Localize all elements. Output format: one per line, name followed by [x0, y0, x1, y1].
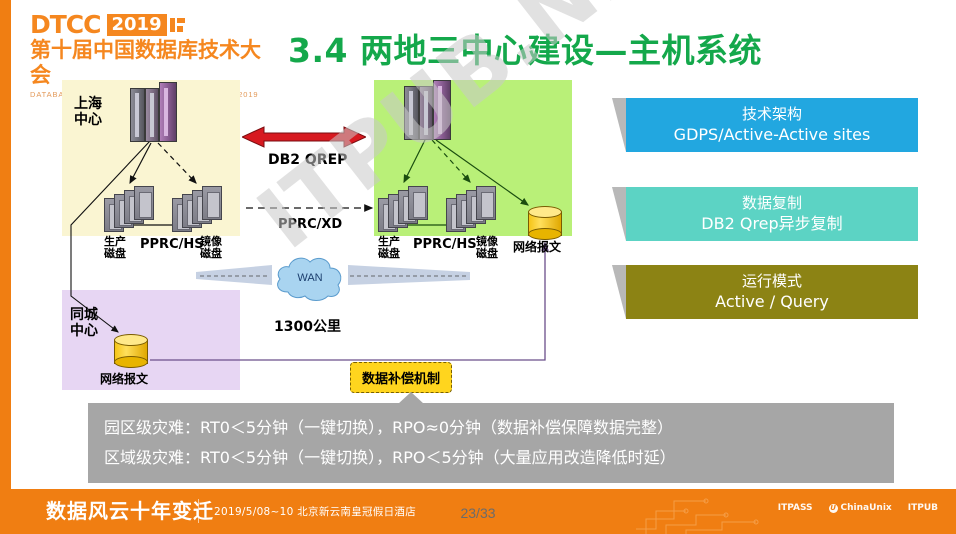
dtcc-flag-icon	[170, 16, 186, 34]
database-cylinder-icon-remote	[528, 206, 562, 240]
banner-data-replication[interactable]: 数据复制 DB2 Qrep异步复制	[626, 187, 918, 241]
panel-tongcheng-center	[62, 290, 240, 390]
label-remote-network-message: 网络报文	[513, 238, 561, 255]
banner-2-line2: DB2 Qrep异步复制	[701, 213, 842, 234]
sponsor-logo-0: ITPASS	[778, 503, 813, 513]
left-orange-bar	[0, 0, 11, 489]
dtcc-wordmark: DTCC	[30, 12, 101, 37]
callout-line-2: 区域级灾难：RT0＜5分钟（一键切换），RPO＜5分钟（大量应用改造降低时延）	[104, 443, 880, 473]
label-remote-mirror-disk: 镜像 磁盘	[464, 236, 510, 260]
label-distance: 1300公里	[274, 316, 341, 336]
dtcc-logo-row-top: DTCC 2019	[30, 12, 270, 37]
label-tongcheng-network-message: 网络报文	[100, 370, 148, 387]
sponsor-logo-1: UChinaUnix	[829, 503, 892, 513]
label-shanghai-production-disk: 生产 磁盘	[92, 236, 138, 260]
qrep-double-arrow-icon	[242, 126, 366, 148]
banner-tech-architecture[interactable]: 技术架构 GDPS/Active-Active sites	[626, 98, 918, 152]
disk-array-icon-shanghai-mirror	[172, 186, 230, 234]
banner-1-line1: 技术架构	[742, 105, 802, 124]
sponsor-logo-2: ITPUB	[908, 503, 938, 513]
label-pprc-xd: PPRC/XD	[278, 217, 342, 232]
page-number: 23/33	[460, 505, 495, 521]
label-shanghai-center: 上海 中心	[74, 96, 102, 128]
database-cylinder-icon-tongcheng	[114, 334, 148, 368]
mainframe-icon-remote	[402, 80, 456, 142]
disk-array-icon-shanghai-production	[104, 186, 162, 234]
footer-sponsor-logos: ITPASS UChinaUnix ITPUB	[778, 503, 938, 513]
footer-divider	[198, 499, 199, 523]
banner-1-line2: GDPS/Active-Active sites	[674, 124, 871, 145]
data-compensation-box: 数据补偿机制	[350, 362, 452, 393]
label-db2-qrep: DB2 QREP	[268, 152, 347, 168]
label-shanghai-mirror-disk: 镜像 磁盘	[188, 236, 234, 260]
left-orange-strip	[0, 0, 14, 489]
chinaunix-mark-icon: U	[829, 504, 838, 513]
callout-line-1: 园区级灾难：RT0＜5分钟（一键切换），RPO≈0分钟（数据补偿保障数据完整）	[104, 413, 880, 443]
disk-array-icon-remote-mirror	[446, 186, 504, 234]
footer-event-info: 2019/5/08~10 北京新云南皇冠假日酒店	[214, 504, 416, 519]
dtcc-year-badge: 2019	[107, 14, 167, 36]
disaster-recovery-callout: 园区级灾难：RT0＜5分钟（一键切换），RPO≈0分钟（数据补偿保障数据完整） …	[88, 403, 894, 483]
page-title: 3.4 两地三中心建设—主机系统	[288, 24, 762, 72]
banner-3-line1: 运行模式	[742, 272, 802, 291]
slide-root: DTCC 2019 第十届中国数据库技术大会 DATABASE TECHNOLO…	[0, 0, 956, 534]
sponsor-logo-1-label: ChinaUnix	[841, 503, 892, 513]
footer-brand-slogan: 数据风云十年变迁	[46, 498, 214, 524]
label-wan: WAN	[272, 252, 348, 304]
label-remote-production-disk: 生产 磁盘	[366, 236, 412, 260]
banner-3-line2: Active / Query	[715, 291, 829, 312]
banner-2-line1: 数据复制	[742, 194, 802, 213]
disk-array-icon-remote-production	[378, 186, 436, 234]
circuit-decoration	[626, 489, 786, 534]
dtcc-logo: DTCC 2019 第十届中国数据库技术大会 DATABASE TECHNOLO…	[30, 12, 270, 74]
banner-operating-mode[interactable]: 运行模式 Active / Query	[626, 265, 918, 319]
mainframe-icon-shanghai	[128, 82, 182, 144]
label-tongcheng-center: 同城 中心	[70, 307, 98, 339]
